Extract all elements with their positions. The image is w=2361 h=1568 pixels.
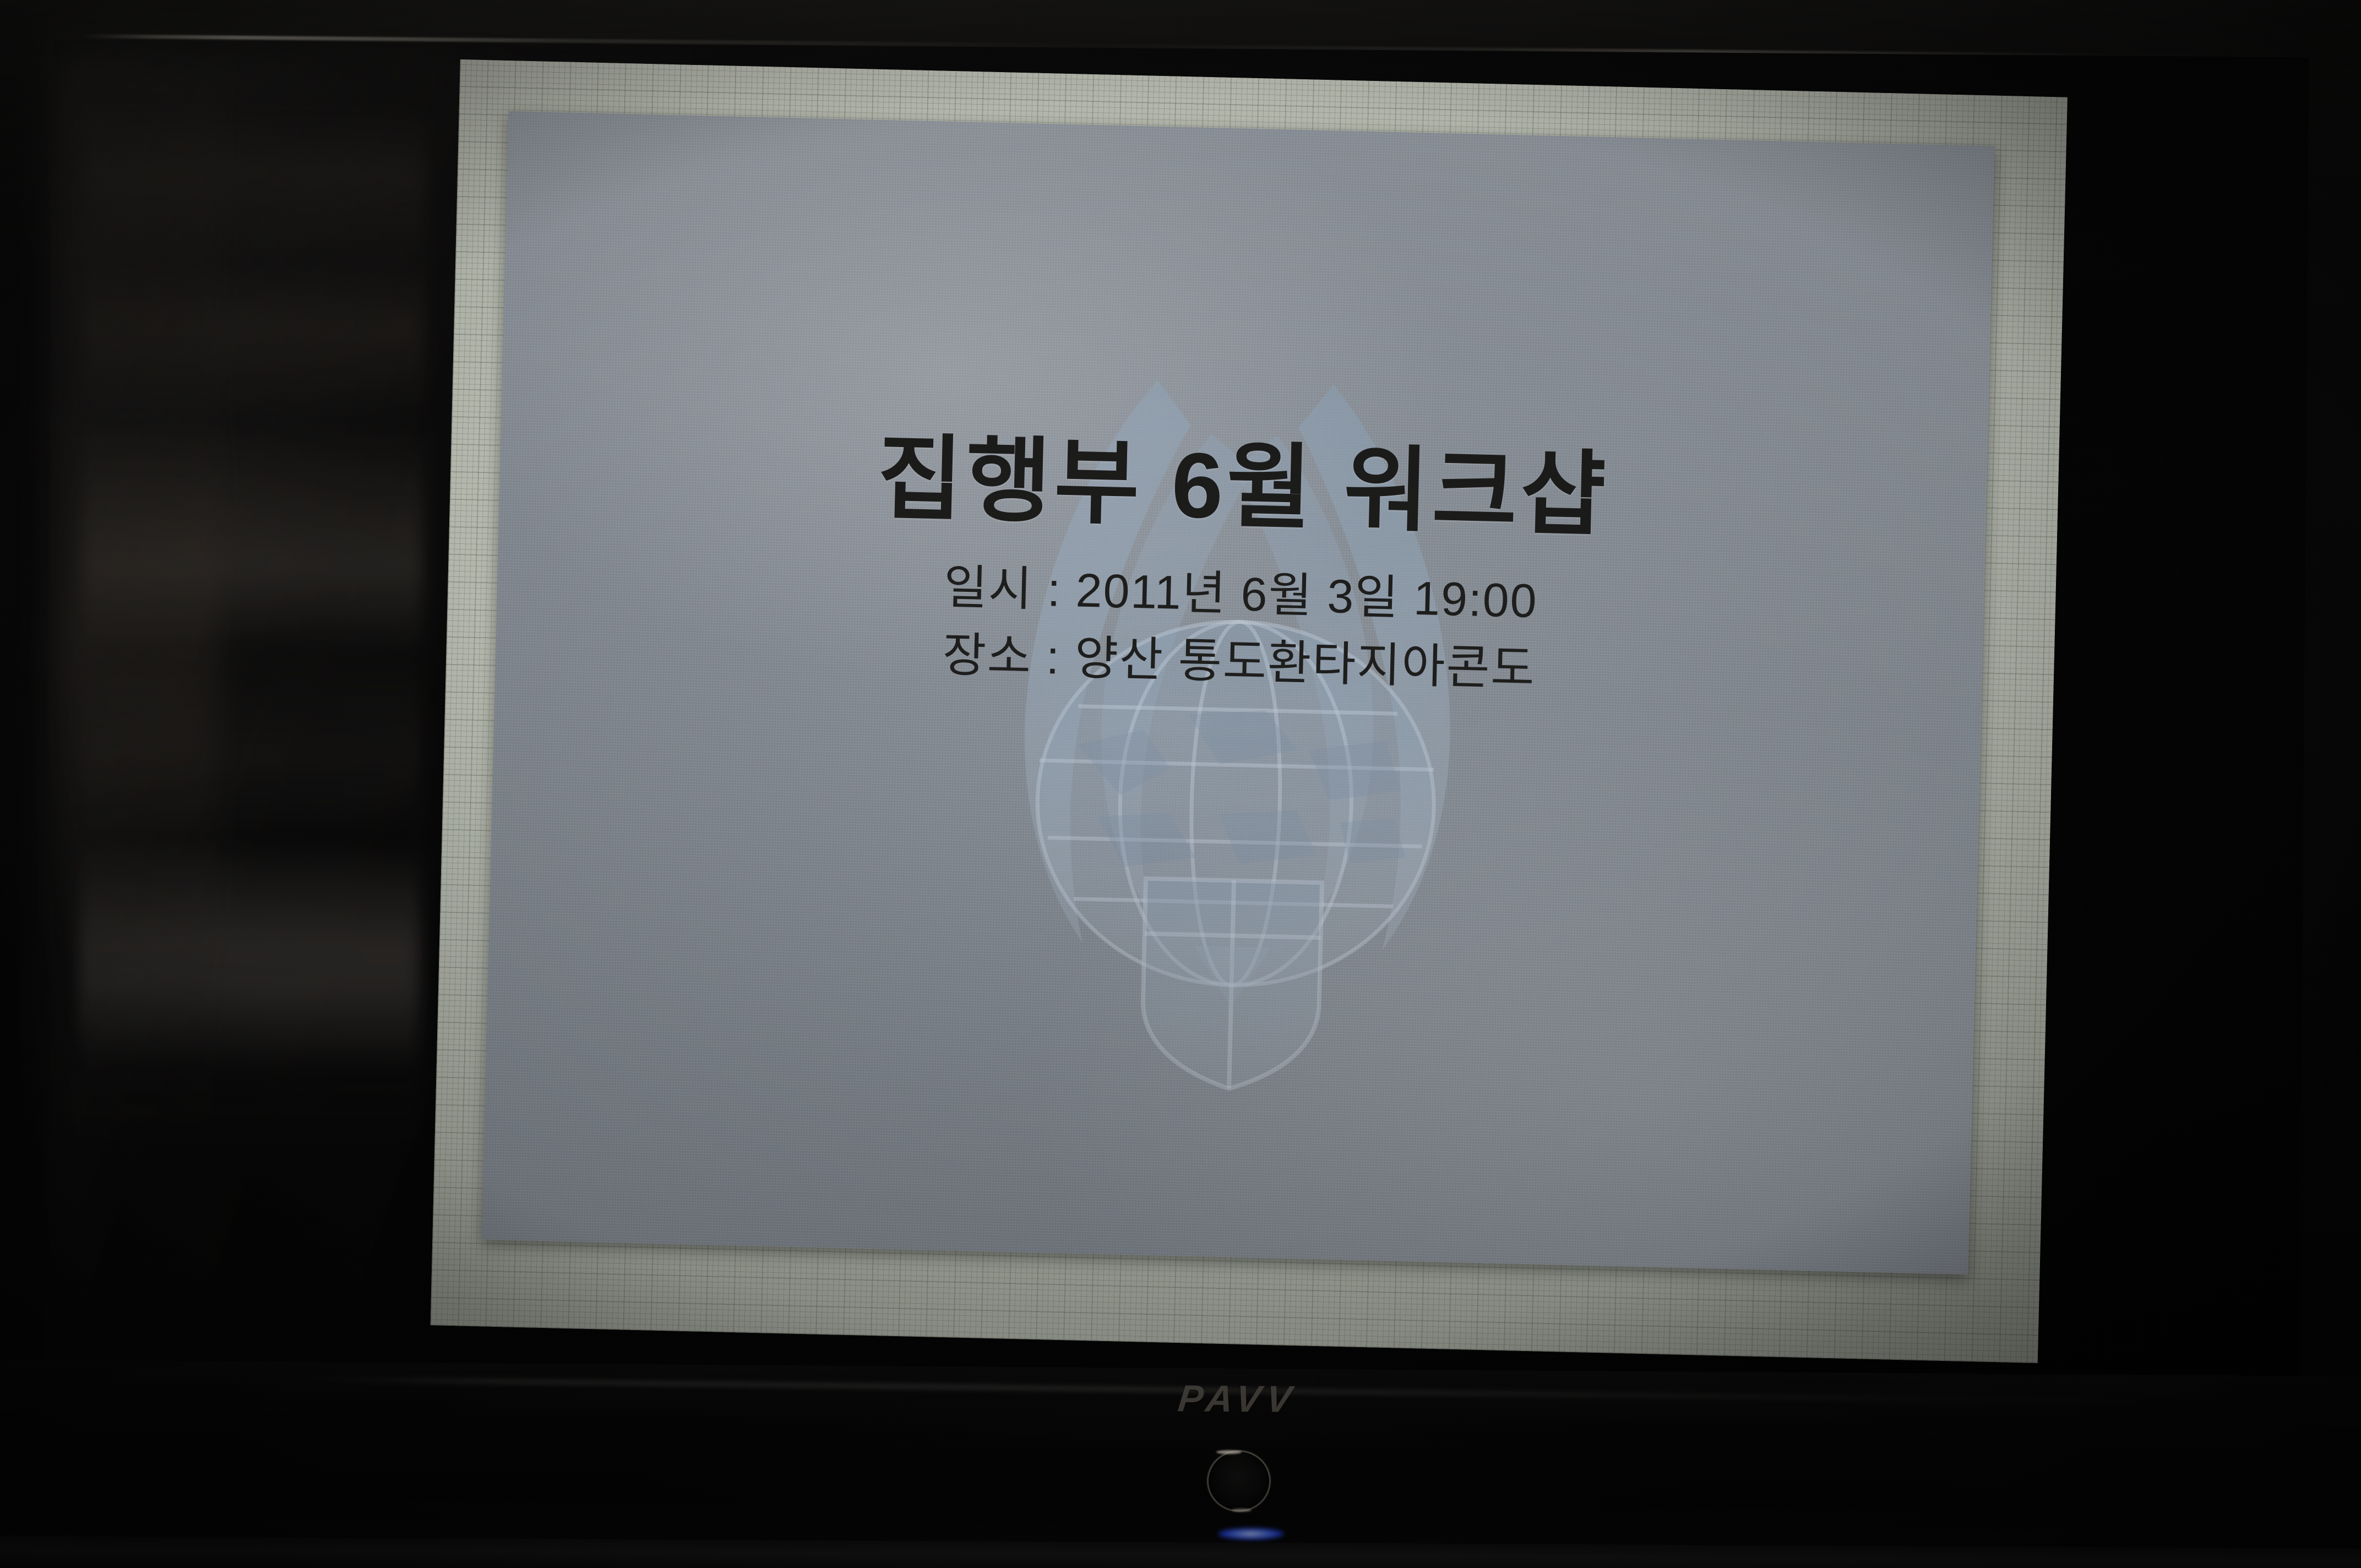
projected-image-area: 집행부 6월 워크샵 일시 : 2011년 6월 3일 19:00 장소 : 양… (431, 59, 2068, 1363)
brand-logo-pavv: PAVV (1176, 1377, 1299, 1420)
power-button[interactable] (1207, 1450, 1271, 1512)
screenshot-stage: 집행부 6월 워크샵 일시 : 2011년 6월 3일 19:00 장소 : 양… (0, 0, 2361, 1568)
tv-screen-panel: 집행부 6월 워크샵 일시 : 2011년 6월 3일 19:00 장소 : 양… (42, 40, 2309, 1401)
slide-text-block: 집행부 6월 워크샵 일시 : 2011년 6월 3일 19:00 장소 : 양… (495, 420, 1987, 713)
glass-reflection-secondary (48, 73, 223, 1340)
slide-title: 집행부 6월 워크샵 (499, 420, 1988, 554)
glass-reflection-shelving (77, 106, 427, 1155)
tv-chassis: 집행부 6월 워크샵 일시 : 2011년 6월 3일 19:00 장소 : 양… (0, 0, 2361, 1568)
presentation-slide: 집행부 6월 워크샵 일시 : 2011년 6월 3일 19:00 장소 : 양… (482, 111, 1995, 1275)
standby-led-indicator (1218, 1528, 1284, 1540)
